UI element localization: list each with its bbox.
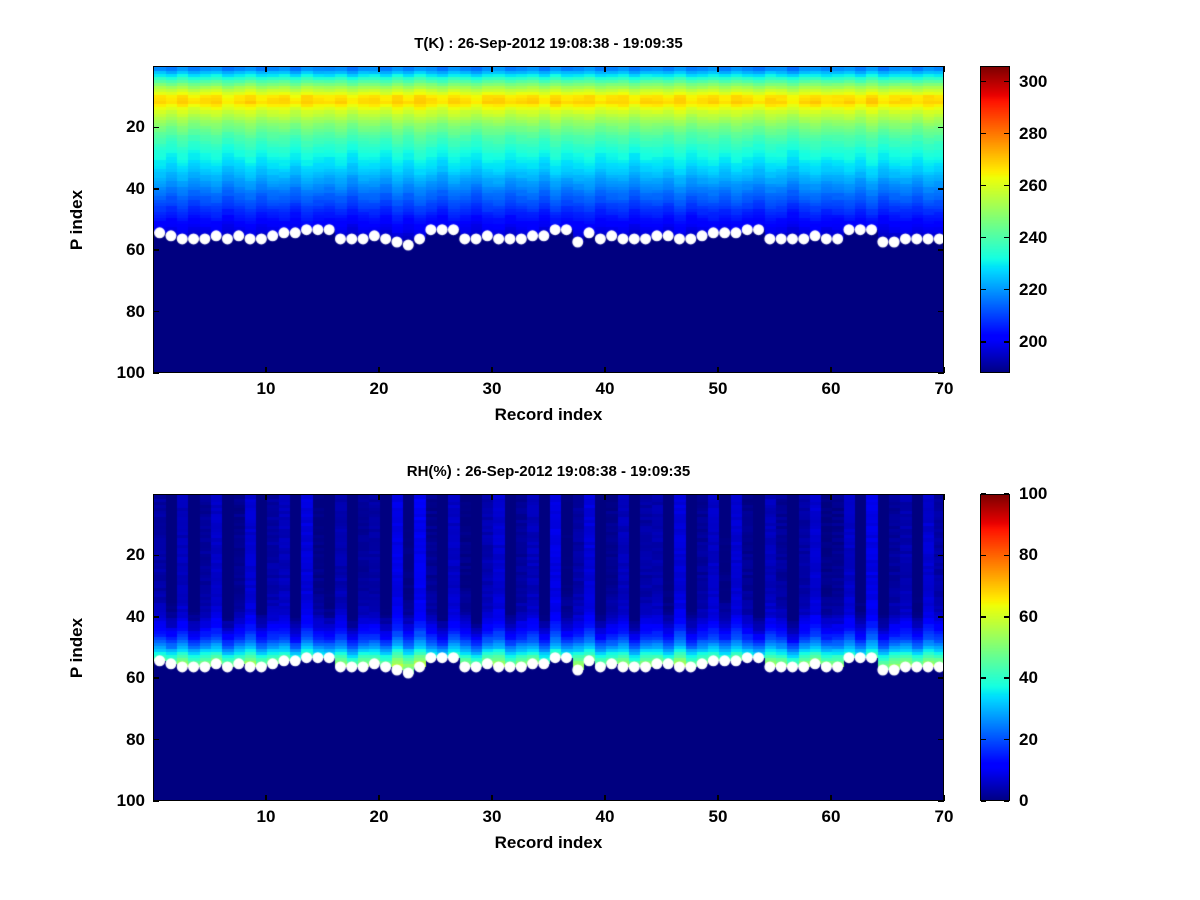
x-tick-label: 40 [596, 807, 615, 827]
colorbar-tick-mark-right [1004, 555, 1009, 557]
x-tick-mark [378, 795, 380, 801]
x-tick-mark [491, 795, 493, 801]
colorbar-tick-mark [981, 555, 986, 557]
y-tick-mark-right [938, 616, 944, 618]
humidity-x-axis-label: Record index [495, 833, 603, 853]
y-tick-mark-right [938, 677, 944, 679]
x-tick-mark-top [378, 494, 380, 500]
x-tick-label: 10 [257, 807, 276, 827]
colorbar-tick-mark [981, 800, 986, 802]
x-tick-mark-top [491, 494, 493, 500]
x-tick-mark [717, 795, 719, 801]
humidity-panel: RH(%) : 26-Sep-2012 19:08:38 - 19:09:35 … [0, 0, 1200, 900]
x-tick-label: 60 [822, 807, 841, 827]
colorbar-tick-mark [981, 616, 986, 618]
y-tick-label: 40 [101, 607, 145, 627]
humidity-colorbar-canvas [981, 495, 1010, 801]
y-tick-label: 20 [101, 545, 145, 565]
y-tick-mark-right [938, 555, 944, 557]
y-tick-mark [153, 800, 159, 802]
x-tick-label: 50 [709, 807, 728, 827]
humidity-y-axis-label: P index [67, 617, 87, 677]
humidity-heatmap-canvas [154, 495, 944, 801]
y-tick-label: 60 [101, 668, 145, 688]
y-tick-mark [153, 677, 159, 679]
x-tick-mark-top [717, 494, 719, 500]
colorbar-tick-label: 80 [1019, 545, 1038, 565]
x-tick-label: 70 [935, 807, 954, 827]
x-tick-mark [830, 795, 832, 801]
colorbar-tick-mark [981, 739, 986, 741]
x-tick-mark-top [830, 494, 832, 500]
x-tick-mark [604, 795, 606, 801]
x-tick-mark-top [604, 494, 606, 500]
colorbar-tick-mark [981, 493, 986, 495]
humidity-plot-title: RH(%) : 26-Sep-2012 19:08:38 - 19:09:35 [153, 463, 944, 480]
x-tick-mark-top [943, 494, 945, 500]
colorbar-tick-label: 0 [1019, 791, 1028, 811]
colorbar-tick-label: 40 [1019, 668, 1038, 688]
colorbar-tick-mark-right [1004, 616, 1009, 618]
y-tick-label: 80 [101, 730, 145, 750]
colorbar-tick-label: 20 [1019, 730, 1038, 750]
colorbar-tick-mark-right [1004, 677, 1009, 679]
y-tick-label: 100 [101, 791, 145, 811]
colorbar-tick-mark-right [1004, 739, 1009, 741]
x-tick-mark [265, 795, 267, 801]
y-tick-mark-right [938, 800, 944, 802]
colorbar-tick-label: 60 [1019, 607, 1038, 627]
y-tick-mark [153, 739, 159, 741]
x-tick-label: 20 [370, 807, 389, 827]
y-tick-mark [153, 555, 159, 557]
y-tick-mark-right [938, 739, 944, 741]
humidity-heatmap-axes[interactable] [153, 494, 944, 801]
colorbar-tick-label: 100 [1019, 484, 1047, 504]
humidity-colorbar[interactable] [980, 494, 1010, 801]
y-tick-mark [153, 616, 159, 618]
colorbar-tick-mark-right [1004, 800, 1009, 802]
colorbar-tick-mark-right [1004, 493, 1009, 495]
x-tick-mark-top [265, 494, 267, 500]
x-tick-label: 30 [483, 807, 502, 827]
colorbar-tick-mark [981, 677, 986, 679]
